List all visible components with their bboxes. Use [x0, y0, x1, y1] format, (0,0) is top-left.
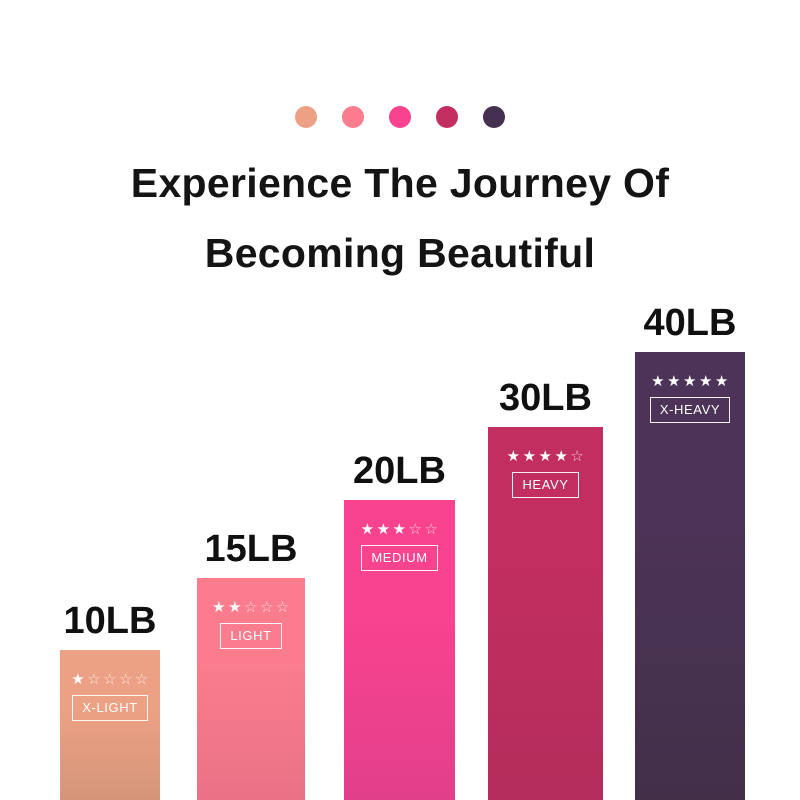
star-filled-icon: ★	[554, 449, 568, 465]
star-filled-icon: ★	[683, 374, 697, 390]
level-badge-light: LIGHT	[220, 623, 281, 649]
bar-group-15lb: 15LB★★☆☆☆LIGHT	[197, 578, 305, 800]
level-badge-heavy: HEAVY	[512, 472, 578, 498]
bar-weight-label-15lb: 15LB	[205, 528, 298, 570]
bar-rating-block-10lb: ★☆☆☆☆X-LIGHT	[60, 672, 160, 721]
star-empty-icon: ☆	[260, 600, 274, 616]
bar-group-40lb: 40LB★★★★★X-HEAVY	[635, 352, 745, 800]
star-filled-icon: ★	[228, 600, 242, 616]
star-rating-30lb: ★★★★☆	[507, 449, 585, 465]
star-empty-icon: ☆	[244, 600, 258, 616]
star-empty-icon: ☆	[135, 672, 149, 688]
star-filled-icon: ★	[377, 522, 391, 538]
star-filled-icon: ★	[393, 522, 407, 538]
star-empty-icon: ☆	[87, 672, 101, 688]
star-rating-20lb: ★★★☆☆	[361, 522, 439, 538]
star-filled-icon: ★	[523, 449, 537, 465]
star-empty-icon: ☆	[276, 600, 290, 616]
product-infographic: Experience The Journey Of Becoming Beaut…	[0, 0, 800, 800]
star-empty-icon: ☆	[119, 672, 133, 688]
star-filled-icon: ★	[507, 449, 521, 465]
star-empty-icon: ☆	[424, 522, 438, 538]
bar-weight-label-10lb: 10LB	[64, 600, 157, 642]
star-empty-icon: ☆	[408, 522, 422, 538]
bar-group-10lb: 10LB★☆☆☆☆X-LIGHT	[60, 650, 160, 800]
bar-rating-block-15lb: ★★☆☆☆LIGHT	[197, 600, 305, 649]
bar-weight-label-40lb: 40LB	[644, 302, 737, 344]
star-rating-10lb: ★☆☆☆☆	[71, 672, 149, 688]
star-filled-icon: ★	[715, 374, 729, 390]
bar-group-20lb: 20LB★★★☆☆MEDIUM	[344, 500, 455, 800]
bar-rating-block-40lb: ★★★★★X-HEAVY	[635, 374, 745, 423]
bar-weight-label-30lb: 30LB	[499, 377, 592, 419]
star-empty-icon: ☆	[103, 672, 117, 688]
bar-group-30lb: 30LB★★★★☆HEAVY	[488, 427, 603, 800]
level-badge-x-light: X-LIGHT	[72, 695, 147, 721]
star-filled-icon: ★	[212, 600, 226, 616]
level-badge-medium: MEDIUM	[361, 545, 437, 571]
star-rating-40lb: ★★★★★	[651, 374, 729, 390]
star-filled-icon: ★	[699, 374, 713, 390]
star-filled-icon: ★	[361, 522, 375, 538]
star-empty-icon: ☆	[570, 449, 584, 465]
bar-rating-block-30lb: ★★★★☆HEAVY	[488, 449, 603, 498]
bar-weight-label-20lb: 20LB	[353, 450, 446, 492]
level-badge-x-heavy: X-HEAVY	[650, 397, 730, 423]
bar-rating-block-20lb: ★★★☆☆MEDIUM	[344, 522, 455, 571]
star-filled-icon: ★	[71, 672, 85, 688]
star-filled-icon: ★	[651, 374, 665, 390]
star-rating-15lb: ★★☆☆☆	[212, 600, 290, 616]
star-filled-icon: ★	[539, 449, 553, 465]
resistance-band-bar-chart: 10LB★☆☆☆☆X-LIGHT15LB★★☆☆☆LIGHT20LB★★★☆☆M…	[0, 0, 800, 800]
star-filled-icon: ★	[667, 374, 681, 390]
